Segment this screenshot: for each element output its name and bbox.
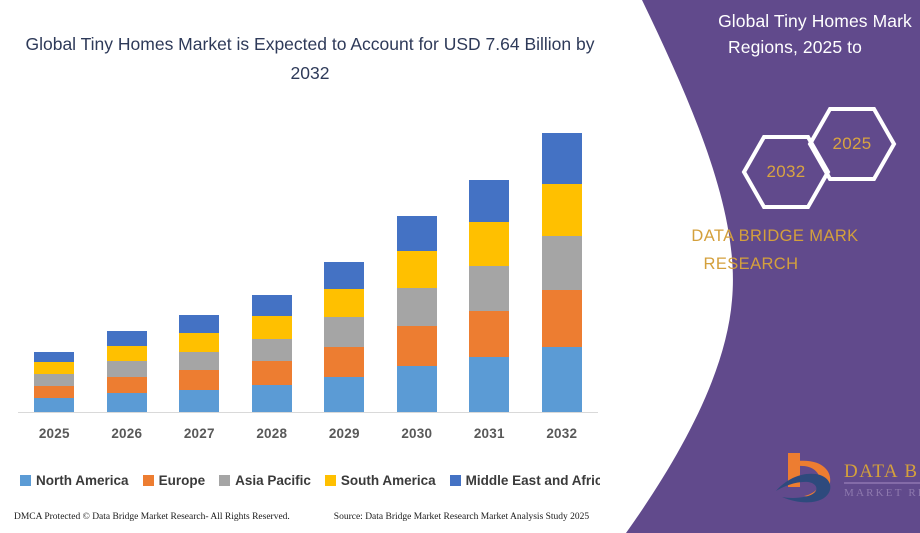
bar-segment <box>252 316 292 338</box>
stacked-bar <box>542 133 582 412</box>
bar-segment <box>34 362 74 374</box>
legend-swatch <box>450 475 461 486</box>
stacked-bar <box>397 216 437 412</box>
chart-legend: North AmericaEuropeAsia PacificSouth Ame… <box>18 468 612 492</box>
x-axis-label-2029: 2029 <box>308 426 380 441</box>
bar-segment <box>469 311 509 358</box>
bar-segment <box>469 222 509 266</box>
legend-item: Middle East and Africa <box>450 473 610 488</box>
bar-segment <box>34 352 74 363</box>
bar-segment <box>469 357 509 412</box>
brand-panel: Global Tiny Homes Mark Regions, 2025 to … <box>600 0 920 533</box>
x-axis-label-2031: 2031 <box>453 426 525 441</box>
stacked-bar <box>107 331 147 412</box>
bar-segment <box>324 377 364 412</box>
stacked-bar <box>34 352 74 412</box>
panel-title: Global Tiny Homes Mark Regions, 2025 to <box>600 8 920 60</box>
data-bridge-logo: DATA B MARKET RE <box>770 447 920 507</box>
stacked-bar-series <box>18 110 598 412</box>
x-axis-label-2030: 2030 <box>381 426 453 441</box>
bar-segment <box>542 184 582 237</box>
bar-segment <box>397 288 437 326</box>
bar-segment <box>252 295 292 316</box>
legend-item: North America <box>20 473 129 488</box>
bar-segment <box>542 290 582 347</box>
bar-segment <box>324 347 364 377</box>
legend-swatch <box>143 475 154 486</box>
bar-segment <box>179 315 219 333</box>
bar-segment <box>179 333 219 352</box>
bar-column-2029 <box>308 262 380 412</box>
bar-segment <box>252 361 292 384</box>
bar-segment <box>34 386 74 399</box>
stacked-bar <box>469 180 509 412</box>
legend-item: Asia Pacific <box>219 473 311 488</box>
stacked-bar <box>252 295 292 412</box>
bar-segment <box>107 393 147 412</box>
bar-column-2030 <box>381 216 453 412</box>
stacked-bar <box>324 262 364 412</box>
panel-brand-text: DATA BRIDGE MARK RESEARCH <box>600 222 920 278</box>
bar-segment <box>107 331 147 346</box>
bar-segment <box>179 390 219 412</box>
footer-copyright: DMCA Protected © Data Bridge Market Rese… <box>14 512 290 522</box>
x-axis-line <box>18 412 598 413</box>
hexagon-2025-label: 2025 <box>808 105 896 183</box>
infographic-root: Global Tiny Homes Market is Expected to … <box>0 0 920 533</box>
panel-brand-line2: RESEARCH <box>630 250 920 278</box>
legend-item: South America <box>325 473 436 488</box>
bar-segment <box>469 180 509 222</box>
bar-segment <box>252 385 292 412</box>
legend-swatch <box>20 475 31 486</box>
x-axis-label-2032: 2032 <box>526 426 598 441</box>
footer-source: Source: Data Bridge Market Research Mark… <box>334 512 589 522</box>
x-axis-label-2027: 2027 <box>163 426 235 441</box>
bar-column-2028 <box>236 295 308 412</box>
legend-label: Europe <box>159 473 206 488</box>
bar-segment <box>397 216 437 251</box>
bar-segment <box>542 347 582 412</box>
panel-title-line2: Regions, 2025 to <box>710 34 920 60</box>
hexagon-2025: 2025 <box>808 105 896 183</box>
bar-segment <box>542 133 582 184</box>
x-axis-label-2026: 2026 <box>91 426 163 441</box>
bar-segment <box>397 366 437 412</box>
stacked-bar <box>179 315 219 412</box>
bar-column-2032 <box>526 133 598 412</box>
legend-label: Asia Pacific <box>235 473 311 488</box>
logo-name-text: DATA B <box>844 461 919 482</box>
bar-column-2027 <box>163 315 235 412</box>
bar-segment <box>324 262 364 289</box>
bar-segment <box>179 370 219 390</box>
bar-column-2026 <box>91 331 163 412</box>
bar-segment <box>252 339 292 361</box>
logo-tagline-text: MARKET RE <box>844 487 920 499</box>
panel-brand-line1: DATA BRIDGE MARK <box>691 227 858 245</box>
bar-segment <box>34 398 74 412</box>
legend-label: North America <box>36 473 129 488</box>
panel-title-line1: Global Tiny Homes Mark <box>718 11 912 31</box>
x-axis-labels: 20252026202720282029203020312032 <box>18 420 598 446</box>
bar-segment <box>469 266 509 311</box>
hexagon-group: 2032 2025 <box>740 105 920 215</box>
bar-segment <box>107 346 147 362</box>
data-bridge-logo-mark: DATA B MARKET RE <box>770 447 920 507</box>
legend-swatch <box>325 475 336 486</box>
legend-swatch <box>219 475 230 486</box>
legend-label: Middle East and Africa <box>466 473 610 488</box>
x-axis-label-2028: 2028 <box>236 426 308 441</box>
legend-label: South America <box>341 473 436 488</box>
x-axis-label-2025: 2025 <box>18 426 90 441</box>
bar-segment <box>324 289 364 317</box>
bar-segment <box>397 251 437 288</box>
bar-segment <box>324 317 364 346</box>
chart-title: Global Tiny Homes Market is Expected to … <box>20 30 600 88</box>
bar-segment <box>107 377 147 394</box>
bar-column-2025 <box>18 352 90 412</box>
bar-column-2031 <box>453 180 525 412</box>
bar-segment <box>34 374 74 386</box>
bar-segment <box>542 236 582 290</box>
bar-segment <box>179 352 219 371</box>
footer: DMCA Protected © Data Bridge Market Rese… <box>14 508 614 526</box>
bar-segment <box>107 361 147 377</box>
legend-item: Europe <box>143 473 206 488</box>
bar-segment <box>397 326 437 366</box>
